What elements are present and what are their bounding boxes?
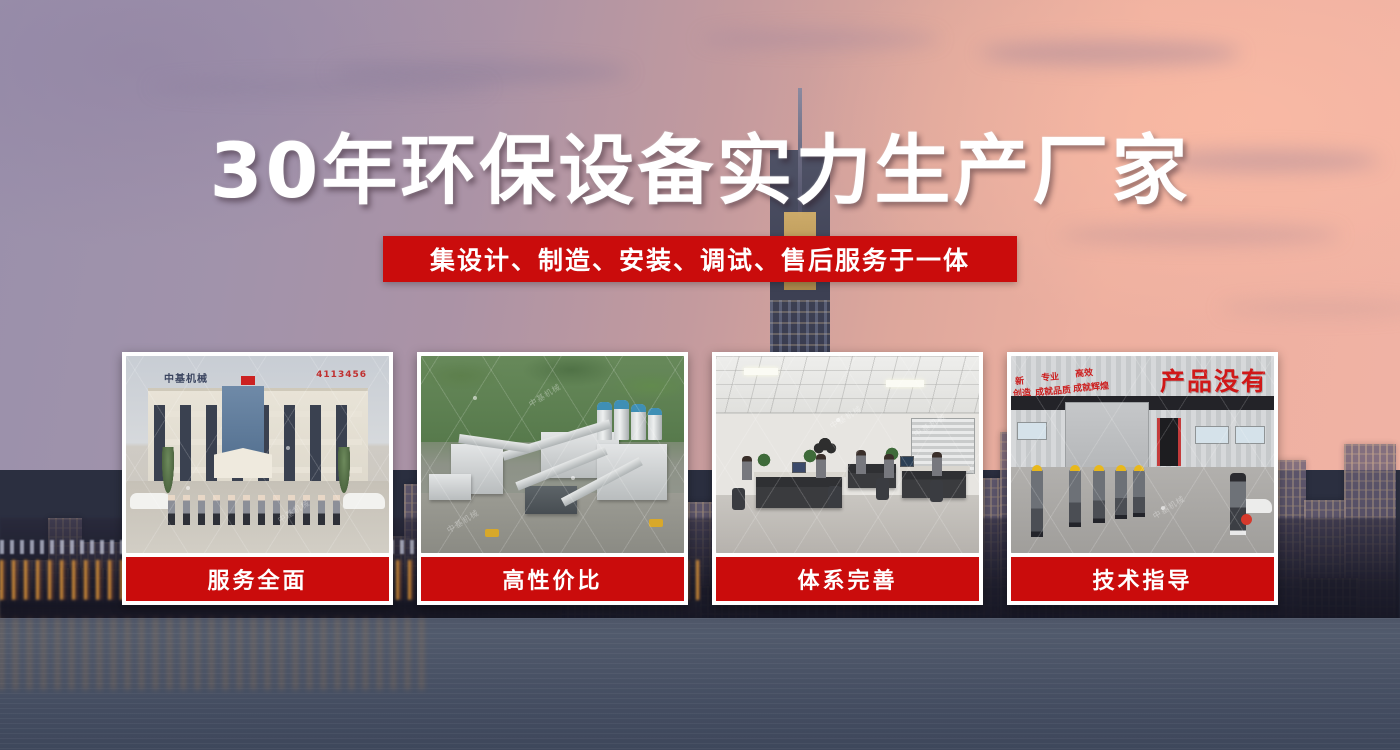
potted-plant — [756, 452, 772, 468]
plant-building — [429, 474, 471, 500]
feature-card-list: 中基机械 4113456 — [122, 352, 1278, 605]
worker-figure — [1031, 469, 1043, 537]
silo-shape — [614, 400, 629, 440]
office-staff-figure — [742, 456, 752, 480]
water-reflection — [0, 618, 430, 690]
office-staff-figure — [884, 454, 894, 478]
staff-figure — [258, 495, 265, 525]
worker-figure — [1069, 469, 1081, 527]
office-staff-figure — [856, 450, 866, 474]
worker-figure — [1133, 469, 1145, 517]
office-staff-figure — [816, 454, 826, 478]
staff-figure — [243, 495, 250, 525]
watermark-dot — [473, 396, 477, 400]
office-interior-photo: 中基机械 中基机械 — [716, 356, 979, 553]
factory-rolling-door — [1065, 402, 1149, 474]
company-headquarters-photo: 中基机械 4113456 — [126, 356, 389, 553]
card-caption: 高性价比 — [421, 557, 684, 601]
watermark-dot — [571, 476, 575, 480]
monitor-shape — [900, 456, 914, 467]
excavator-shape — [649, 519, 663, 527]
staff-figure — [318, 495, 325, 525]
subtitle-text: 集设计、制造、安装、调试、售后服务于一体 — [430, 241, 970, 277]
worker-figure — [1115, 469, 1127, 519]
ceiling-light — [886, 380, 924, 387]
staff-figure — [168, 495, 175, 525]
window-shape — [1235, 426, 1265, 444]
staff-figure — [228, 495, 235, 525]
chair-shape — [876, 478, 889, 500]
hard-hat-icon — [1070, 465, 1080, 471]
card-caption: 技术指导 — [1011, 557, 1274, 601]
office-ceiling — [716, 356, 979, 414]
supervisor-figure — [1230, 473, 1246, 535]
car-shape — [343, 493, 385, 509]
staff-figure — [183, 495, 190, 525]
office-staff-figure — [932, 452, 942, 476]
hard-hat-icon — [1134, 465, 1144, 471]
factory-side-door — [1157, 418, 1181, 466]
building-phone-text: 4113456 — [316, 370, 367, 380]
card-caption: 服务全面 — [126, 557, 389, 601]
card-caption-text: 服务全面 — [207, 563, 307, 595]
factory-slogan-small: 专业 — [1040, 369, 1059, 384]
hard-hat-icon — [1094, 465, 1104, 471]
chair-shape — [828, 486, 841, 508]
car-shape — [130, 493, 172, 509]
worker-figure — [1093, 469, 1105, 523]
watermark-dot — [286, 446, 290, 450]
window-shape — [1017, 422, 1047, 440]
card-caption-text: 高性价比 — [502, 563, 602, 595]
flag-icon — [241, 376, 255, 385]
staff-figure — [198, 495, 205, 525]
card-caption: 体系完善 — [716, 557, 979, 601]
production-plant-aerial-photo: 中基机械 中基机械 — [421, 356, 684, 553]
feature-card-system[interactable]: 中基机械 中基机械 体系完善 — [712, 352, 983, 605]
subtitle-banner: 集设计、制造、安装、调试、售后服务于一体 — [383, 236, 1017, 282]
feature-card-value[interactable]: 中基机械 中基机械 高性价比 — [417, 352, 688, 605]
watermark-dot — [186, 486, 190, 490]
feature-card-training[interactable]: 产品没有 新 专业 高效 创造 成就品质 成就辉煌 — [1007, 352, 1278, 605]
card-caption-text: 技术指导 — [1092, 563, 1192, 595]
ceiling-light — [744, 368, 778, 375]
hero-banner: 30年环保设备实力生产厂家 集设计、制造、安装、调试、售后服务于一体 中基机械 … — [0, 0, 1400, 750]
factory-workers-photo: 产品没有 新 专业 高效 创造 成就品质 成就辉煌 — [1011, 356, 1274, 553]
staff-figure — [333, 495, 340, 525]
building-sign-text: 中基机械 — [164, 370, 208, 385]
excavator-shape — [485, 529, 499, 537]
factory-slogan-small: 高效 — [1074, 365, 1093, 380]
plant-building — [597, 444, 667, 500]
silo-shape — [648, 408, 662, 440]
hard-hat-icon — [1116, 465, 1126, 471]
hard-hat-icon — [1032, 465, 1042, 471]
monitor-shape — [792, 462, 806, 473]
factory-slogan-text: 产品没有 — [1160, 362, 1268, 398]
window-shape — [1195, 426, 1229, 444]
feature-card-service[interactable]: 中基机械 4113456 — [122, 352, 393, 605]
tree-shape — [162, 447, 174, 493]
staff-figure — [213, 495, 220, 525]
chair-shape — [732, 488, 745, 510]
chair-shape — [930, 480, 943, 502]
tree-shape — [338, 447, 350, 493]
red-helmet-held — [1241, 514, 1252, 525]
card-caption-text: 体系完善 — [797, 563, 897, 595]
silo-shape — [631, 404, 646, 440]
page-title: 30年环保设备实力生产厂家 — [0, 133, 1400, 209]
